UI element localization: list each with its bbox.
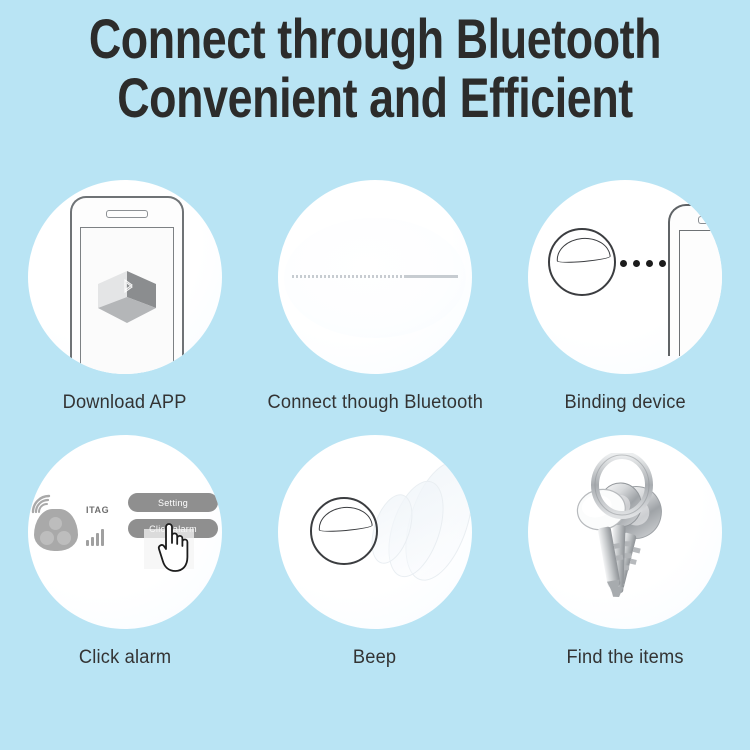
page-title-line-2: Convenient and Efficient: [75, 71, 675, 126]
step-icon-disc: [278, 180, 472, 374]
step-icon-disc: [278, 435, 472, 629]
tracker-tag-icon: [310, 497, 378, 565]
tracker-hole: [40, 531, 54, 545]
tracker-tag-lens: [317, 505, 373, 534]
phone-speaker-icon: [698, 216, 722, 224]
dotted-connection-line-segment: [406, 275, 458, 278]
setting-button[interactable]: Setting: [128, 493, 218, 512]
signal-bar: [91, 537, 94, 546]
step-caption: Find the items: [566, 647, 683, 669]
tracker-hole: [49, 517, 62, 530]
signal-bar: [96, 533, 99, 546]
step-caption: Binding device: [564, 392, 685, 414]
step-icon-disc: [28, 180, 222, 374]
signal-bars-icon: [86, 528, 104, 546]
device-name-label: ITAG: [86, 505, 109, 515]
sheen-ellipse: [284, 218, 466, 338]
pairing-dot: [633, 260, 640, 267]
steps-grid: Download APP Connect though Bluetooth: [0, 180, 750, 690]
page-title-line-1: Connect through Bluetooth: [75, 12, 675, 67]
step-icon-disc: ITAG Setting Click alarm: [28, 435, 222, 629]
smartphone-corner-icon: [668, 204, 722, 356]
page-title: Connect through Bluetooth Convenient and…: [0, 12, 750, 126]
step-caption: Download APP: [63, 392, 187, 414]
step-beep: Beep: [250, 435, 500, 690]
step-click-alarm: ITAG Setting Click alarm Click alarm: [0, 435, 250, 690]
pointing-hand-cursor-icon: [154, 521, 190, 573]
step-find-the-items: Find the items: [500, 435, 750, 690]
signal-bar: [86, 540, 89, 546]
step-caption: Click alarm: [79, 647, 171, 669]
step-caption: Connect though Bluetooth: [267, 392, 483, 414]
step-binding-device: Binding device: [500, 180, 750, 435]
tracker-tag-icon: [548, 228, 616, 296]
step-download-app: Download APP: [0, 180, 250, 435]
step-connect-bluetooth: Connect though Bluetooth: [250, 180, 500, 435]
phone-screen: [679, 230, 722, 356]
itag-app-panel: ITAG Setting Click alarm: [28, 435, 222, 629]
smartphone-icon: [70, 196, 184, 374]
step-icon-disc: [528, 435, 722, 629]
tracker-tag-lens: [555, 236, 611, 265]
step-icon-disc: [528, 180, 722, 374]
phone-speaker-icon: [106, 210, 148, 218]
step-caption: Beep: [353, 647, 396, 669]
pairing-dot: [620, 260, 627, 267]
tracker-device-icon: [34, 509, 78, 551]
pairing-dot: [646, 260, 653, 267]
keyring-keys-icon: [550, 453, 700, 613]
app-cube-icon: [90, 257, 164, 331]
signal-bar: [101, 529, 104, 546]
pairing-dot: [659, 260, 666, 267]
tracker-hole: [57, 531, 71, 545]
